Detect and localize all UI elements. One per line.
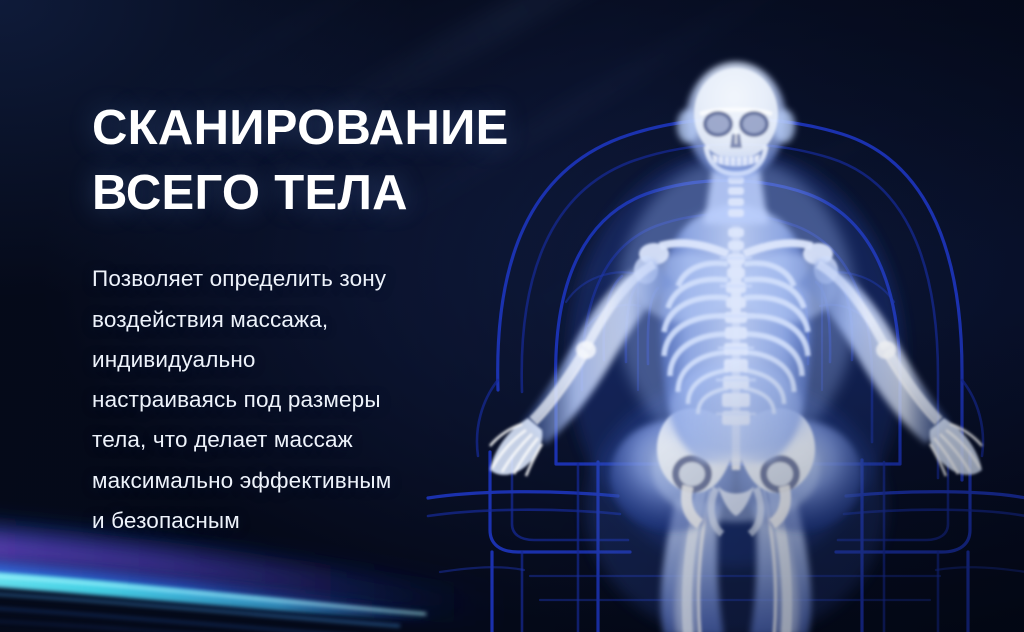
xray-human-body bbox=[488, 58, 1008, 632]
page-description: Позволяет определить зону воздействия ма… bbox=[92, 259, 492, 541]
text-block: СКАНИРОВАНИЕ ВСЕГО ТЕЛА Позволяет опреде… bbox=[92, 96, 492, 541]
page-title: СКАНИРОВАНИЕ ВСЕГО ТЕЛА bbox=[92, 96, 492, 225]
slide-canvas: СКАНИРОВАНИЕ ВСЕГО ТЕЛА Позволяет опреде… bbox=[0, 0, 1024, 632]
